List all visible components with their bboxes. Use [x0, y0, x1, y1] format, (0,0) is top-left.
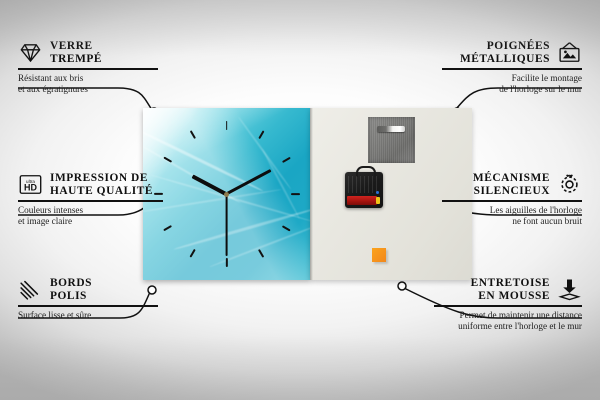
callout-title-line1: IMPRESSION DE [50, 172, 148, 184]
mechanism-vents [348, 176, 380, 193]
product-image [143, 108, 472, 280]
battery [347, 196, 377, 205]
callout-sub-line1: Facilite le montage [512, 73, 582, 83]
gear-icon [557, 172, 582, 197]
picture-hanger-icon [557, 40, 582, 65]
callout-title-line2: SILENCIEUX [474, 185, 550, 197]
callout-sub-line2: uniforme entre l'horloge et le mur [458, 321, 582, 331]
callout-divider [18, 200, 163, 201]
callout-sub-line1: Résistant aux bris [18, 73, 83, 83]
callout-title-line2: HAUTE QUALITÉ [50, 185, 153, 197]
foam-spacer-arrow-icon [557, 277, 582, 302]
callout-divider [18, 305, 158, 306]
callout-title-line1: ENTRETOISE [471, 277, 550, 289]
hanger-keyhole-slot [377, 126, 405, 132]
callout-divider [18, 68, 158, 69]
metal-hanger-plate [368, 117, 415, 163]
callout-divider [434, 305, 582, 306]
callout-title-line1: MÉCANISME [473, 172, 550, 184]
callout-title-line1: VERRE [50, 40, 93, 52]
polished-edges-icon [18, 277, 43, 302]
callout-sub-line2: de l'horloge sur le mur [499, 84, 582, 94]
callout-sub-line1: Permet de maintenir une distance [460, 310, 582, 320]
callout-verre-trempe: VERRE TREMPÉ Résistant aux bris et aux é… [18, 40, 158, 95]
callout-divider [442, 200, 582, 201]
foam-spacer [372, 248, 386, 262]
svg-text:HD: HD [24, 182, 37, 192]
callout-sub-line1: Couleurs intenses [18, 205, 83, 215]
callout-impression-haute-qualite: ultra HD IMPRESSION DE HAUTE QUALITÉ Cou… [18, 172, 163, 227]
callout-title-line2: MÉTALLIQUES [460, 53, 550, 65]
clock-front-glass-panel [143, 108, 310, 280]
second-hand [226, 194, 228, 256]
callout-poignees-metalliques: POIGNÉES MÉTALLIQUES Facilite le montage… [442, 40, 582, 95]
callout-title-line2: POLIS [50, 290, 87, 302]
infographic-canvas: VERRE TREMPÉ Résistant aux bris et aux é… [0, 0, 600, 400]
diamond-icon [18, 40, 43, 65]
callout-mecanisme-silencieux: MÉCANISME SILENCIEUX Les aiguilles de l'… [442, 172, 582, 227]
quartz-mechanism [345, 172, 383, 208]
mechanism-indicator [376, 191, 379, 194]
callout-sub-line2: et image claire [18, 216, 72, 226]
hand-center-cap [224, 192, 229, 197]
callout-entretoise-en-mousse: ENTRETOISE EN MOUSSE Permet de maintenir… [434, 277, 582, 332]
callout-sub-line2: ne font aucun bruit [512, 216, 582, 226]
callout-title-line1: BORDS [50, 277, 92, 289]
callout-title-line2: TREMPÉ [50, 53, 102, 65]
callout-title-line2: EN MOUSSE [478, 290, 550, 302]
callout-title-line1: POIGNÉES [487, 40, 550, 52]
callout-sub-line1: Surface lisse et sûre [18, 310, 91, 320]
callout-bords-polis: BORDS POLIS Surface lisse et sûre [18, 277, 158, 321]
callout-sub-line1: Les aiguilles de l'horloge [490, 205, 582, 215]
ultra-hd-icon: ultra HD [18, 172, 43, 197]
callout-sub-line2: et aux égratignures [18, 84, 88, 94]
callout-divider [442, 68, 582, 69]
